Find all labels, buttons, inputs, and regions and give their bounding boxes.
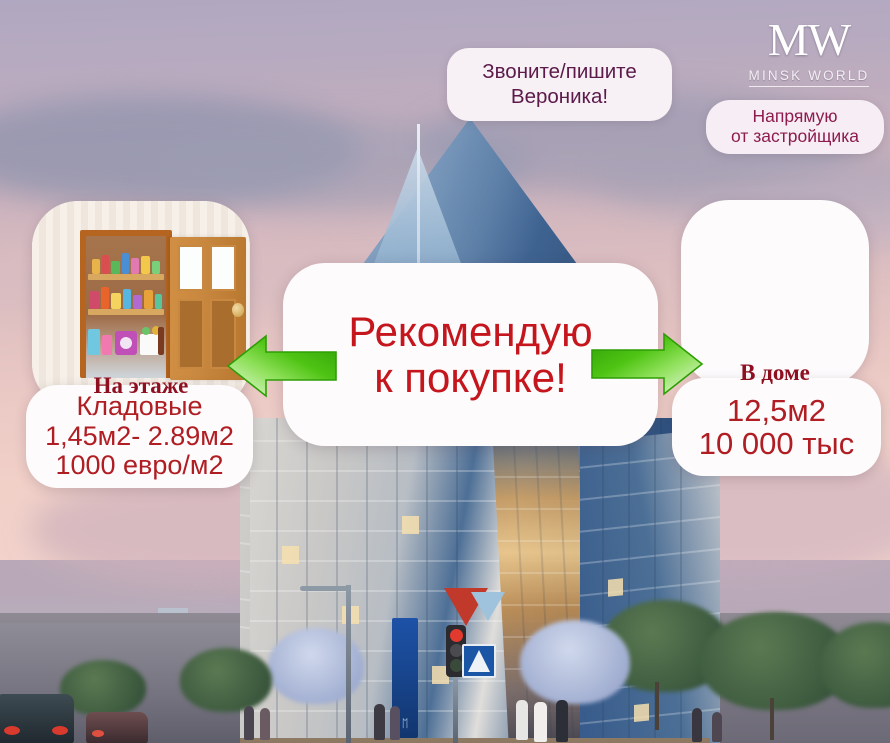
building-podium [240, 738, 710, 743]
pedestrian [374, 704, 385, 740]
mw-monogram-icon: MW [748, 14, 870, 66]
pedestrian [390, 706, 400, 740]
pedestrian [244, 706, 254, 740]
car [0, 694, 74, 743]
traffic-light-pole [453, 677, 458, 743]
shelf-item [133, 295, 142, 309]
shelf-item [152, 261, 160, 274]
badge-line-1: Напрямую [753, 107, 838, 127]
car-taillight [4, 726, 20, 735]
floor-item [102, 335, 112, 355]
left-card-heading: На этаже [32, 373, 250, 399]
right-card-line-1: 12,5м2 [727, 394, 826, 427]
pedestrian [534, 702, 547, 742]
floor-item [88, 329, 100, 355]
promo-poster: ᛖ MW MINSK WORLD Напрямую от застройщика… [0, 0, 890, 743]
left-card-line-2: 1,45м2- 2.89м2 [45, 422, 234, 452]
car-taillight [92, 730, 104, 737]
street-lamp-arm [300, 586, 350, 591]
right-card-heading: В доме [681, 360, 869, 386]
left-card-text-panel: Кладовые 1,45м2- 2.89м2 1000 евро/м2 [26, 385, 253, 488]
tree [180, 648, 272, 712]
shelf-item [144, 290, 153, 309]
right-card-image-panel: P [681, 200, 869, 387]
shelf-item [102, 255, 109, 274]
shelf-item [141, 256, 150, 274]
shelf-item [155, 294, 162, 309]
contact-line-2: Вероника! [511, 85, 608, 109]
tree-trunk [655, 682, 659, 730]
contact-bubble: Звоните/пишите Вероника! [447, 48, 672, 121]
floor-item [158, 327, 164, 355]
brand-logo: MW MINSK WORLD [748, 14, 870, 100]
car [86, 712, 148, 743]
street-lamp-pole [346, 585, 351, 743]
recommendation-line-1: Рекомендую [348, 309, 592, 354]
pedestrian [556, 700, 568, 742]
shelf-item [111, 293, 121, 309]
badge-line-2: от застройщика [731, 127, 859, 147]
shelf-item [122, 253, 129, 274]
pedestrian [260, 708, 270, 740]
tree-trunk [770, 698, 774, 740]
pedestrian [516, 700, 528, 740]
recommendation-line-2: к покупке! [374, 355, 567, 400]
pedestrian [692, 708, 702, 742]
door-panel [178, 299, 204, 369]
tree-blossom [520, 620, 630, 704]
yield-sign [444, 588, 488, 626]
door-pane [210, 245, 236, 291]
shelf-item [131, 258, 139, 274]
contact-line-1: Звоните/пишите [482, 60, 636, 84]
shelf-item [90, 291, 99, 309]
left-card-line-3: 1000 евро/м2 [55, 451, 223, 481]
shelf-item [123, 289, 131, 309]
shelf-item [101, 287, 109, 309]
shelf-item [111, 261, 120, 274]
shelf-item [92, 259, 100, 274]
floor-item [120, 337, 132, 349]
shelf [88, 274, 164, 280]
right-card-line-2: 10 000 тыс [699, 427, 854, 460]
door-pane [178, 245, 204, 291]
car-taillight [52, 726, 68, 735]
pedestrian-crossing-sign [462, 644, 496, 678]
brand-wordmark: MINSK WORLD [749, 68, 870, 87]
floor-item [142, 327, 150, 335]
shelf [88, 309, 164, 315]
badge-direct-from-developer: Напрямую от застройщика [706, 100, 884, 154]
pedestrian [712, 712, 722, 742]
door-knob-icon [232, 303, 244, 317]
